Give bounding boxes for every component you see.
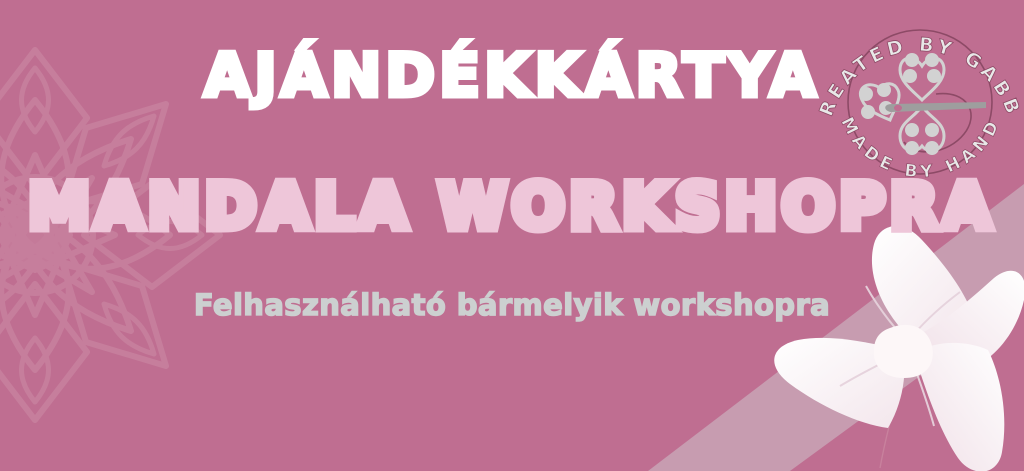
created-by-gabby-stamp: CREATED BY GABBY MADE BY HAND <box>818 2 1022 194</box>
bow-decoration <box>762 218 1024 471</box>
gift-card-tagline: Felhasználható bármelyik workshopra <box>0 291 1024 320</box>
mandala-decoration <box>0 0 320 471</box>
gift-card: CREATED BY GABBY MADE BY HAND AJÁNDÉKKÁR… <box>0 0 1024 471</box>
